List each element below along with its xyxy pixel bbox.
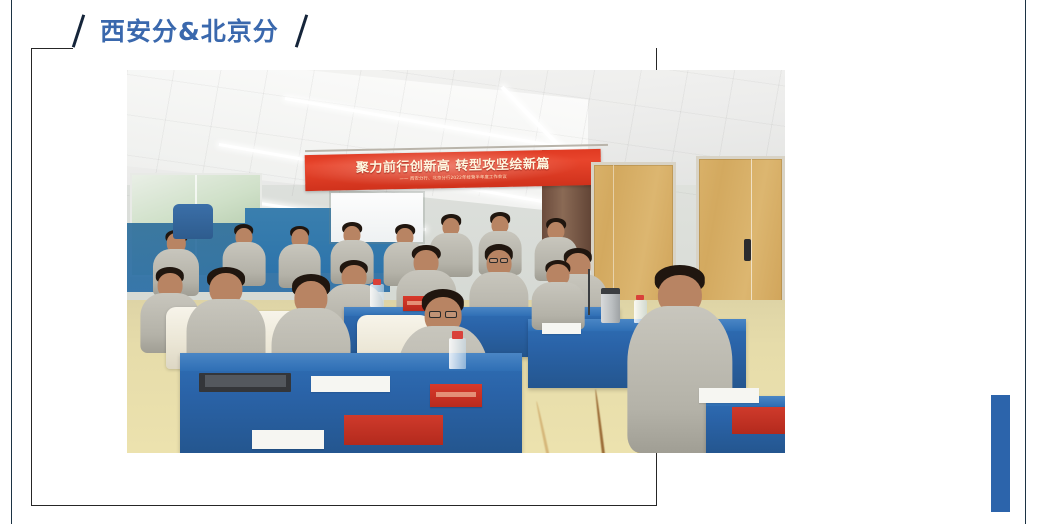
water-bottle <box>370 284 383 307</box>
glasses-icon <box>445 311 457 317</box>
water-bottle <box>449 338 465 369</box>
glasses-icon <box>500 258 508 263</box>
carpet-pattern-line <box>594 388 618 453</box>
table-edge <box>180 353 522 371</box>
conference-room-photo: 聚力前行创新高 转型攻坚绘新篇 —— 西安分行、北京分行2022年经营半年度工作… <box>127 70 785 453</box>
red-banner: 聚力前行创新高 转型攻坚绘新篇 —— 西安分行、北京分行2022年经营半年度工作… <box>304 149 601 192</box>
backpack <box>173 204 212 238</box>
glasses-icon <box>429 311 441 317</box>
name-card <box>430 384 483 407</box>
frame-left-border <box>31 48 32 506</box>
banner-sub-text: —— 西安分行、北京分行2022年经营半年度工作会议 <box>399 174 506 182</box>
right-edge-rule <box>1025 0 1026 524</box>
document <box>252 430 324 449</box>
left-edge-rule <box>11 0 12 524</box>
glasses-icon <box>489 258 497 263</box>
document <box>542 323 581 334</box>
bottle-cap <box>373 279 381 285</box>
document <box>699 388 758 403</box>
carpet-pattern-line <box>535 401 565 453</box>
slide-canvas: 西安分&北京分 聚力前行创新高 转型攻坚绘新篇 —— 西安分行、北京分行2022… <box>0 0 1040 524</box>
accent-bar <box>991 395 1010 512</box>
frame-top-stub <box>31 48 73 49</box>
presenter <box>532 262 585 331</box>
laptop <box>199 373 291 392</box>
frame-bottom-border <box>31 505 657 506</box>
bottle-cap <box>452 331 463 338</box>
document <box>311 376 390 391</box>
banner-main-text: 聚力前行创新高 转型攻坚绘新篇 <box>355 158 549 176</box>
slash-left-icon <box>70 14 86 48</box>
microphone-stand <box>588 269 590 315</box>
page-title: 西安分&北京分 <box>70 12 309 50</box>
red-folder <box>732 407 785 434</box>
slash-right-icon <box>293 14 309 48</box>
thermos <box>601 288 621 322</box>
page-title-text: 西安分&北京分 <box>100 19 279 44</box>
thermos-lid <box>601 288 621 294</box>
red-folder <box>344 415 443 446</box>
door-lock-icon <box>744 239 751 261</box>
